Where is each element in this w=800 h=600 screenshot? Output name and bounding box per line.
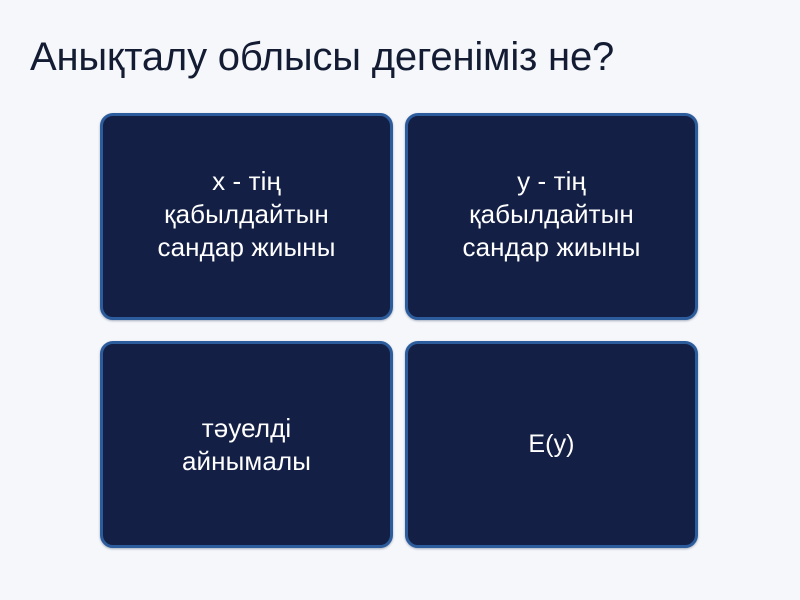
answer-option-d-label: E(y): [528, 428, 574, 461]
answer-option-a-label: х - тің қабылдайтын сандар жиыны: [158, 165, 336, 264]
answer-option-c-label: тәуелді айнымалы: [182, 412, 311, 478]
answer-option-d[interactable]: E(y): [405, 341, 698, 548]
answer-option-b-label: у - тің қабылдайтын сандар жиыны: [463, 165, 641, 264]
quiz-screen: Анықталу облысы дегеніміз не? х - тің қа…: [0, 0, 800, 600]
answer-option-c[interactable]: тәуелді айнымалы: [100, 341, 393, 548]
answer-option-a[interactable]: х - тің қабылдайтын сандар жиыны: [100, 113, 393, 320]
answer-options-grid: х - тің қабылдайтын сандар жиыны у - тің…: [100, 113, 698, 548]
page-title: Анықталу облысы дегеніміз не?: [30, 33, 770, 81]
answer-option-b[interactable]: у - тің қабылдайтын сандар жиыны: [405, 113, 698, 320]
